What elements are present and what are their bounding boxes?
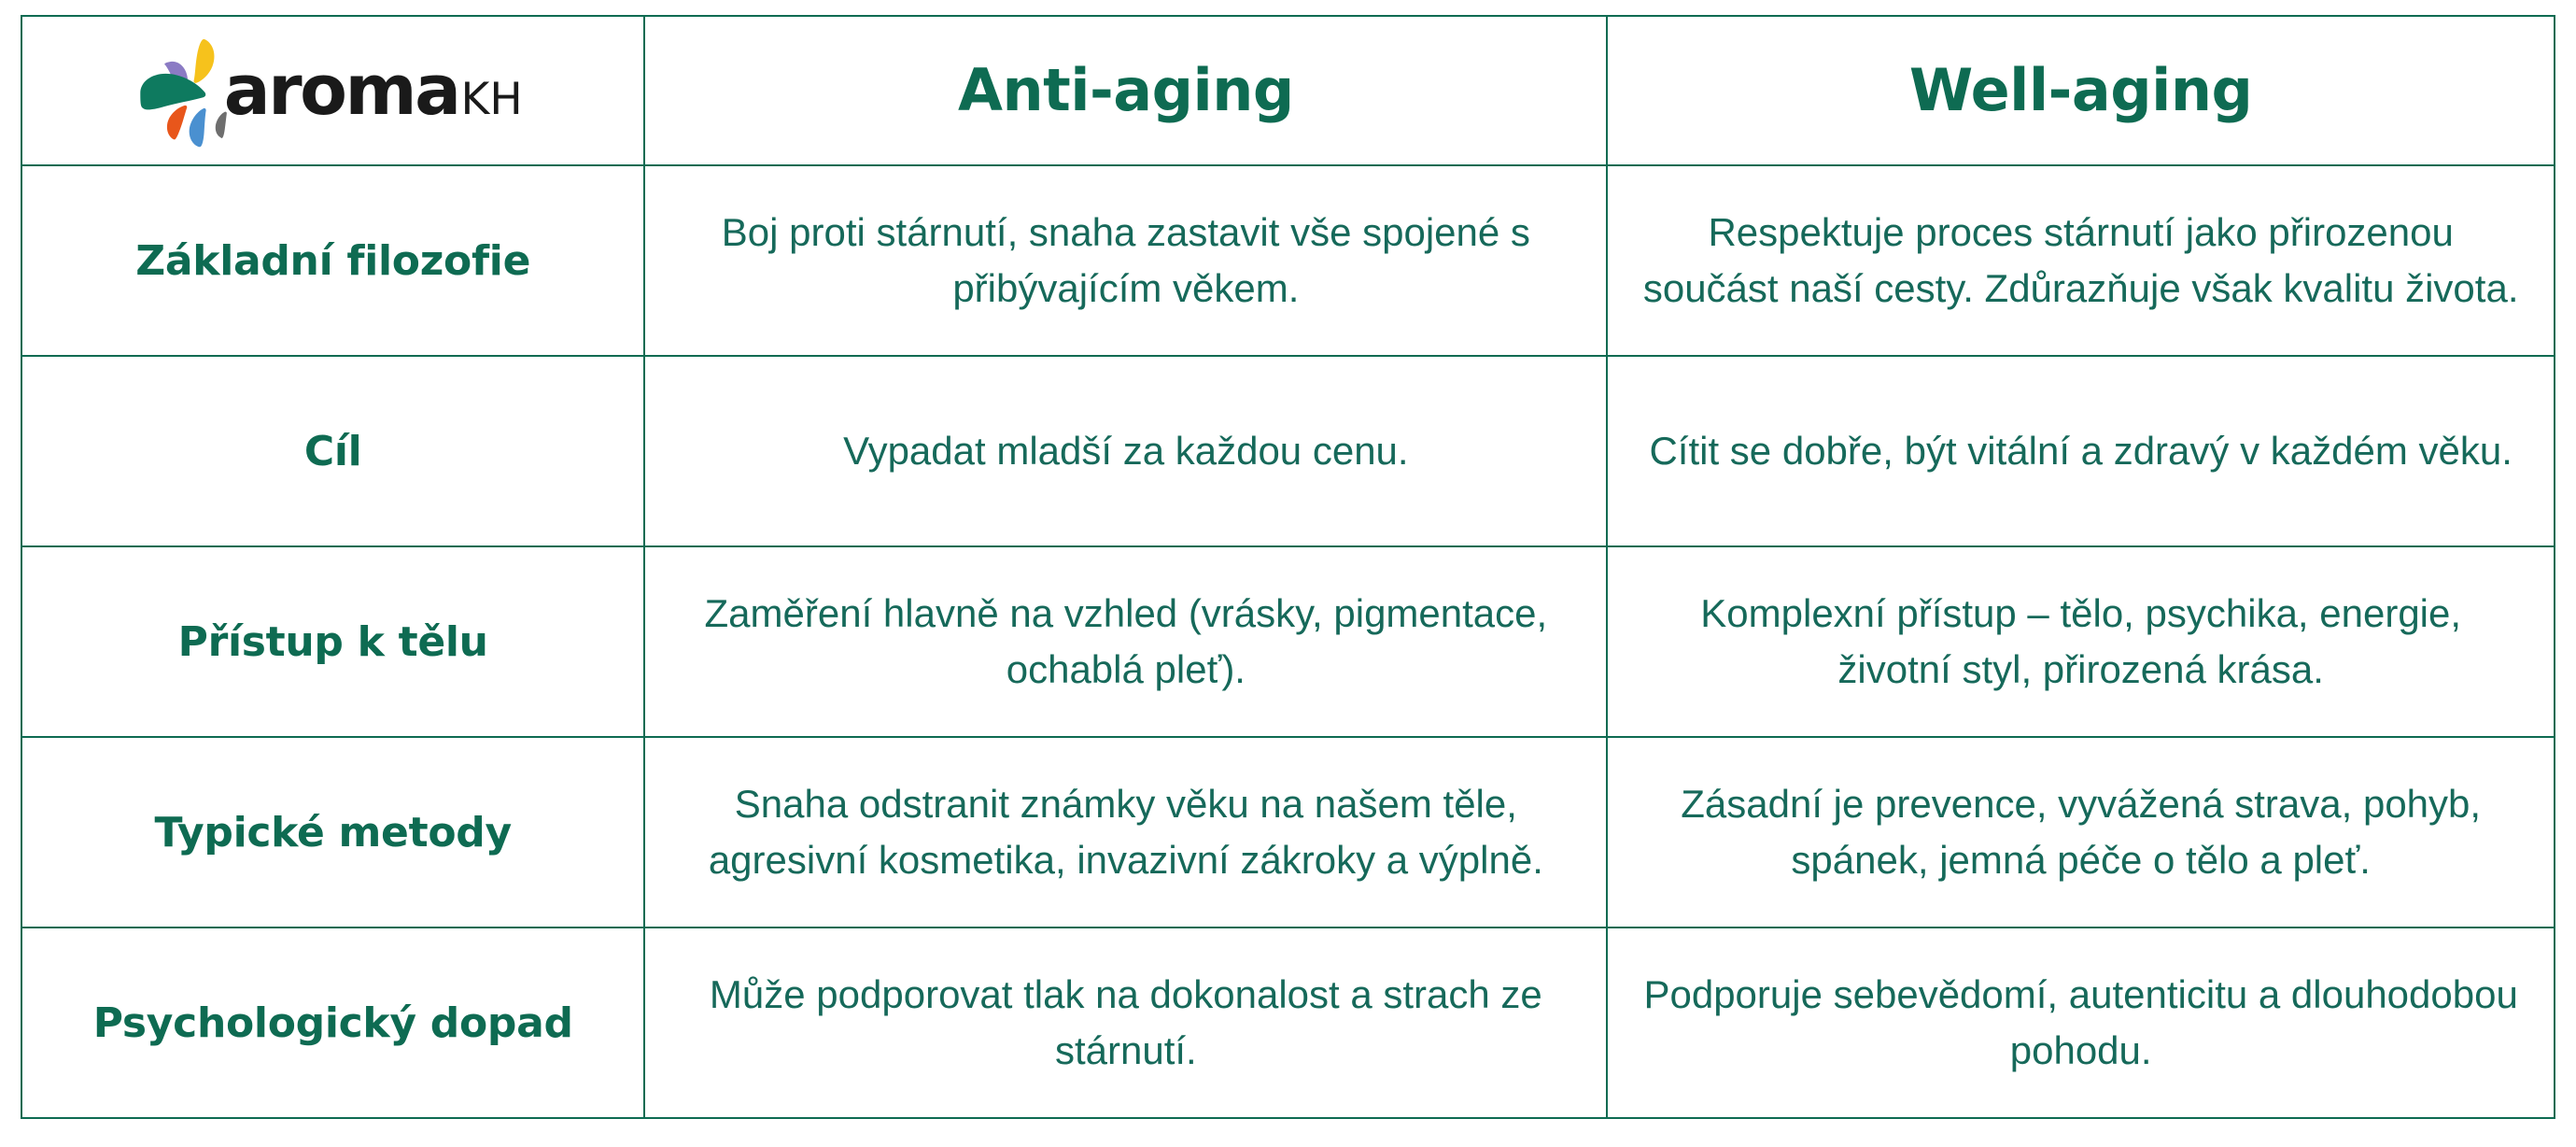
row-anti-cell: Vypadat mladší za každou cenu. (644, 356, 1607, 546)
table-row: Typické metody Snaha odstranit známky vě… (21, 737, 2555, 928)
row-well-cell: Respektuje proces stárnutí jako přirozen… (1607, 165, 2555, 356)
row-anti-cell: Může podporovat tlak na dokonalost a str… (644, 928, 1607, 1118)
cell-well-cil: Cítit se dobře, být vitální a zdravý v k… (1640, 423, 2522, 479)
row-anti-cell: Snaha odstranit známky věku na našem těl… (644, 737, 1607, 928)
column-header-well-aging-label: Well-aging (1640, 59, 2522, 122)
logo-text-aroma: aroma (224, 56, 459, 125)
cell-well-psychologicky-dopad: Podporuje sebevědomí, autenticitu a dlou… (1640, 967, 2522, 1080)
cell-anti-typicke-metody: Snaha odstranit známky věku na našem těl… (677, 776, 1574, 889)
anti-aging-vs-well-aging-table: aroma KH Anti-aging Well-aging Základní … (21, 15, 2555, 1119)
table-row: Psychologický dopad Může podporovat tlak… (21, 928, 2555, 1118)
table-row: Cíl Vypadat mladší za každou cenu. Cítit… (21, 356, 2555, 546)
logo-cell: aroma KH (21, 16, 644, 165)
table-header-row: aroma KH Anti-aging Well-aging (21, 16, 2555, 165)
table-row: Přístup k tělu Zaměření hlavně na vzhled… (21, 546, 2555, 737)
aroma-kh-droplet-logo-icon (129, 35, 239, 149)
column-header-well-aging: Well-aging (1607, 16, 2555, 165)
row-anti-cell: Zaměření hlavně na vzhled (vrásky, pigme… (644, 546, 1607, 737)
cell-well-pristup-k-telu: Komplexní přístup – tělo, psychika, ener… (1640, 586, 2522, 699)
cell-anti-cil: Vypadat mladší za každou cenu. (677, 423, 1574, 479)
row-label-cell: Základní filozofie (21, 165, 644, 356)
column-header-anti-aging: Anti-aging (644, 16, 1607, 165)
cell-anti-psychologicky-dopad: Může podporovat tlak na dokonalost a str… (677, 967, 1574, 1080)
row-well-cell: Zásadní je prevence, vyvážená strava, po… (1607, 737, 2555, 928)
row-anti-cell: Boj proti stárnutí, snaha zastavit vše s… (644, 165, 1607, 356)
row-label-cell: Cíl (21, 356, 644, 546)
row-label-cell: Typické metody (21, 737, 644, 928)
row-well-cell: Podporuje sebevědomí, autenticitu a dlou… (1607, 928, 2555, 1118)
cell-anti-zakladni-filozofie: Boj proti stárnutí, snaha zastavit vše s… (677, 205, 1574, 318)
row-label-cell: Přístup k tělu (21, 546, 644, 737)
row-label-typicke-metody: Typické metody (54, 807, 612, 858)
row-well-cell: Komplexní přístup – tělo, psychika, ener… (1607, 546, 2555, 737)
row-label-zakladni-filozofie: Základní filozofie (54, 235, 612, 287)
cell-well-typicke-metody: Zásadní je prevence, vyvážená strava, po… (1640, 776, 2522, 889)
row-label-cell: Psychologický dopad (21, 928, 644, 1118)
logo-text-kh: KH (461, 78, 523, 121)
row-label-pristup-k-telu: Přístup k tělu (54, 616, 612, 668)
cell-anti-pristup-k-telu: Zaměření hlavně na vzhled (vrásky, pigme… (677, 586, 1574, 699)
cell-well-zakladni-filozofie: Respektuje proces stárnutí jako přirozen… (1640, 205, 2522, 318)
column-header-anti-aging-label: Anti-aging (677, 59, 1574, 122)
aroma-kh-wordmark: aroma KH (224, 56, 523, 125)
comparison-table-page: aroma KH Anti-aging Well-aging Základní … (0, 0, 2576, 1147)
table-row: Základní filozofie Boj proti stárnutí, s… (21, 165, 2555, 356)
row-well-cell: Cítit se dobře, být vitální a zdravý v k… (1607, 356, 2555, 546)
row-label-psychologicky-dopad: Psychologický dopad (54, 998, 612, 1049)
row-label-cil: Cíl (54, 426, 612, 477)
